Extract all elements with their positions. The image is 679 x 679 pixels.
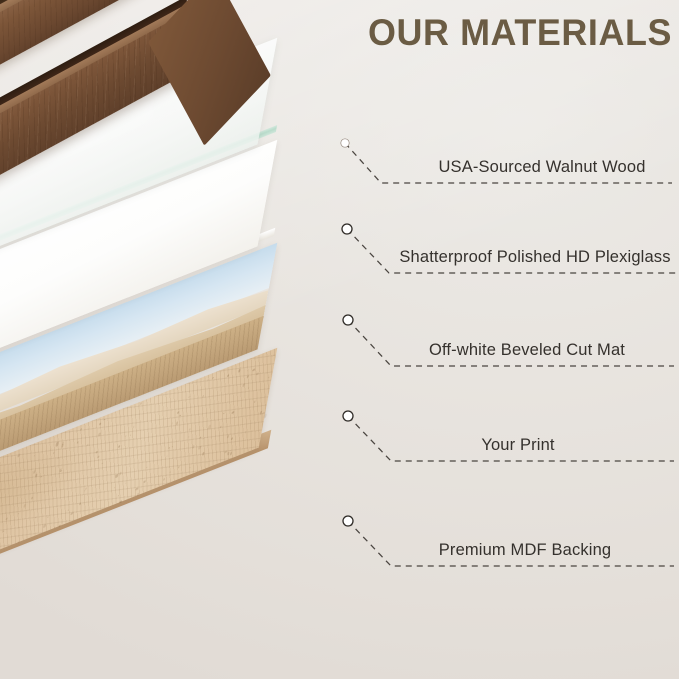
page-title: OUR MATERIALS — [362, 14, 672, 51]
callout-label-mdf-backing: Premium MDF Backing — [439, 541, 611, 560]
callout-label-walnut-wood: USA-Sourced Walnut Wood — [438, 158, 645, 177]
callout-label-cut-mat: Off-white Beveled Cut Mat — [429, 341, 625, 360]
callout-label-your-print: Your Print — [481, 436, 554, 455]
product-infographic: OUR MATERIALS USA-Sourced Walnut WoodSha… — [0, 0, 679, 679]
exploded-layer-stack — [0, 0, 520, 679]
callout-label-plexiglass: Shatterproof Polished HD Plexiglass — [399, 248, 670, 267]
title-block: OUR MATERIALS — [352, 14, 672, 51]
